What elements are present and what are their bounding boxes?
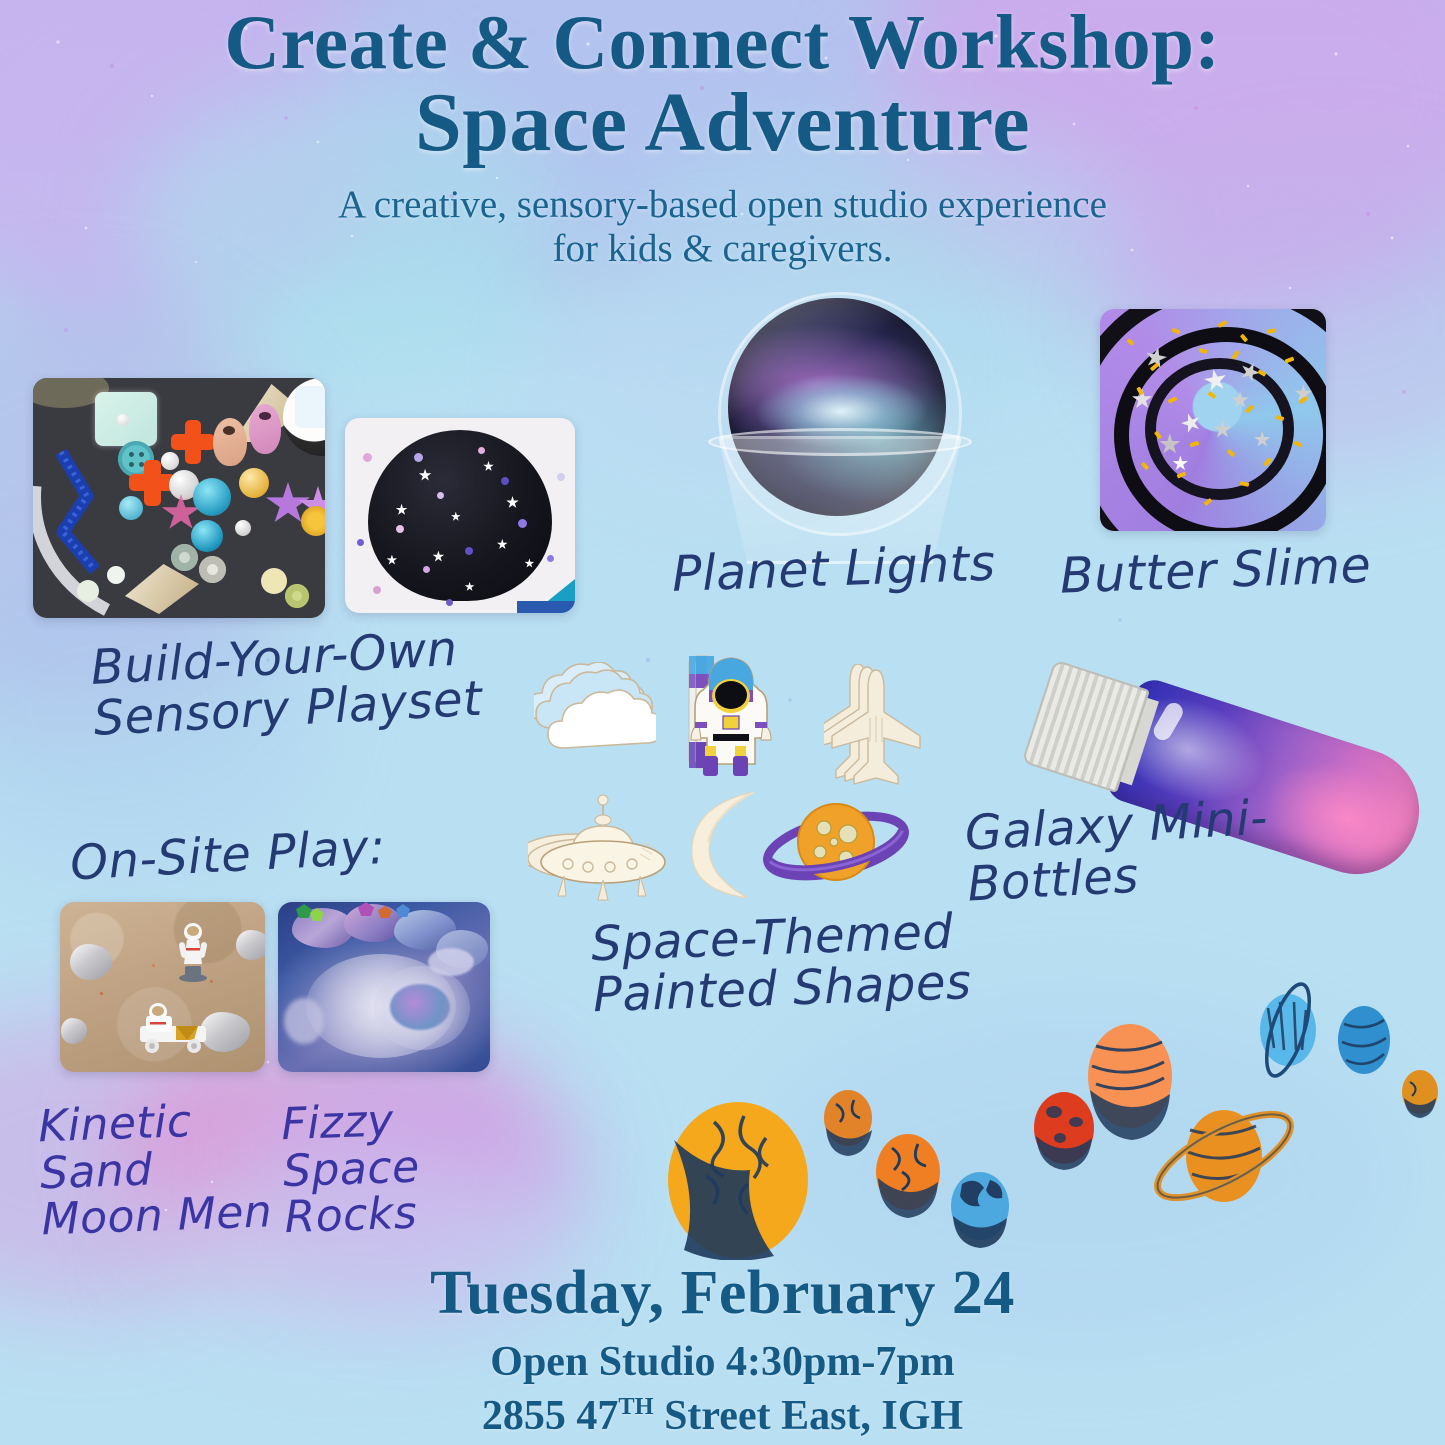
event-date: Tuesday, February 24 bbox=[0, 1258, 1445, 1329]
wood-shape-crescent-moon-icon bbox=[670, 786, 774, 902]
photo-fizzy-space-rocks bbox=[278, 902, 490, 1072]
label-kinetic-sand-moon-men: Kinetic Sand Moon Men bbox=[38, 1096, 293, 1245]
label-galaxy-mini-bottles: Galaxy Mini- Bottles bbox=[964, 791, 1299, 910]
headline-block: Create & Connect Workshop: Space Adventu… bbox=[0, 6, 1445, 270]
subtitle-line2: for kids & caregivers. bbox=[0, 227, 1445, 271]
solar-system-illustration bbox=[640, 980, 1445, 1260]
planet-pluto bbox=[1402, 1070, 1438, 1118]
label-fizzy-space-rocks: Fizzy Space Rocks bbox=[281, 1094, 526, 1242]
photo-butter-slime bbox=[1100, 309, 1326, 531]
planet-neptune bbox=[1338, 1006, 1390, 1074]
planet-earth bbox=[951, 1172, 1009, 1248]
label-planet-lights: Planet Lights bbox=[671, 537, 1013, 601]
address-number: 2855 47 bbox=[482, 1393, 619, 1439]
wood-shape-astronaut-icon bbox=[685, 650, 775, 780]
page-title-line2: Space Adventure bbox=[0, 83, 1445, 163]
event-time: Open Studio 4:30pm-7pm bbox=[0, 1338, 1445, 1386]
event-address: 2855 47TH Street East, IGH bbox=[0, 1392, 1445, 1440]
label-butter-slime: Butter Slime bbox=[1059, 539, 1381, 602]
planet-venus bbox=[876, 1134, 940, 1218]
planet-saturn bbox=[1146, 1098, 1301, 1213]
subtitle: A creative, sensory-based open studio ex… bbox=[0, 183, 1445, 270]
label-build-your-own-sensory-playset: Build-Your-Own Sensory Playset bbox=[90, 621, 515, 745]
wood-shape-ringed-planet-icon bbox=[760, 790, 912, 902]
planet-uranus bbox=[1258, 980, 1318, 1081]
planet-light-dome-graphic bbox=[700, 298, 975, 560]
photo-kinetic-sand-moon-men bbox=[60, 902, 265, 1072]
address-rest: Street East, IGH bbox=[654, 1393, 964, 1439]
planet-jupiter bbox=[1088, 1024, 1172, 1140]
page-title-line1: Create & Connect Workshop: bbox=[0, 6, 1445, 79]
wood-shape-ufo-icon bbox=[528, 784, 678, 902]
label-space-themed-painted-shapes: Space-Themed Painted Shapes bbox=[590, 905, 1013, 1021]
subtitle-line1: A creative, sensory-based open studio ex… bbox=[0, 183, 1445, 227]
address-ordinal: TH bbox=[618, 1393, 653, 1420]
wood-shape-cloud-icon bbox=[534, 662, 656, 762]
photo-sensory-tray bbox=[33, 378, 325, 618]
planet-sun bbox=[668, 1102, 808, 1260]
poster-canvas: Create & Connect Workshop: Space Adventu… bbox=[0, 0, 1445, 1445]
photo-galaxy-playdough bbox=[345, 418, 575, 613]
wood-shape-airplane-icon bbox=[824, 664, 936, 800]
planet-mercury bbox=[824, 1090, 872, 1156]
planet-mars bbox=[1034, 1092, 1094, 1170]
